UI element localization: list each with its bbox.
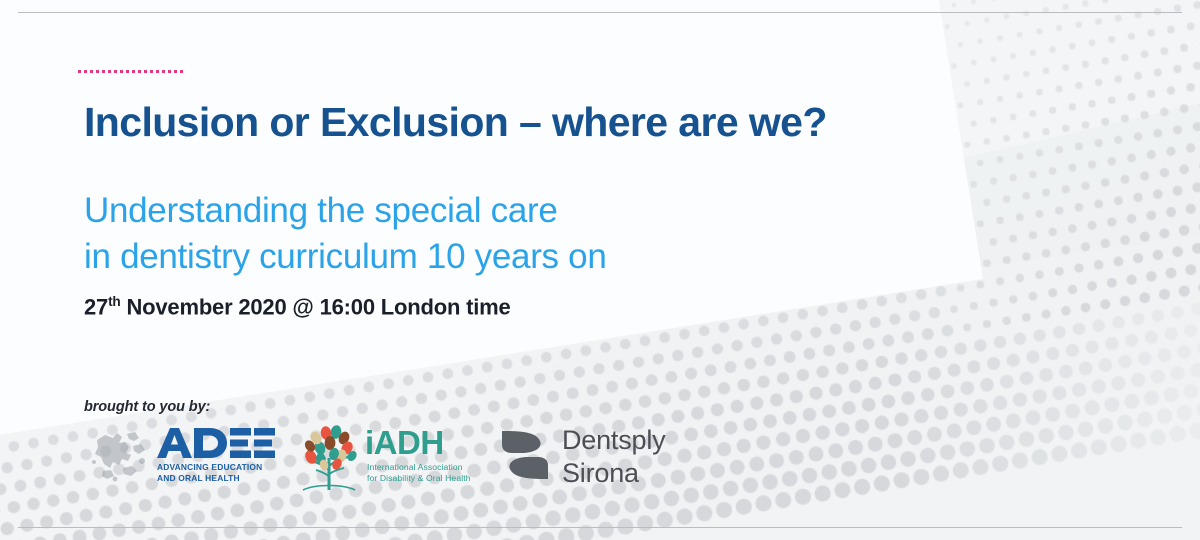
adee-tagline: ADVANCING EDUCATION AND ORAL HEALTH	[157, 462, 287, 484]
sponsors-intro-label: brought to you by:	[84, 399, 210, 415]
dentsply-sirona-wordmark-line-2: Sirona	[562, 457, 665, 490]
iadh-wordmark: iADH	[365, 426, 444, 459]
adee-logo[interactable]: ADVANCING EDUCATION AND ORAL HEALTH	[89, 418, 279, 498]
adee-wordmark	[155, 426, 275, 462]
dentsply-sirona-wordmark-line-1: Dentsply	[562, 424, 665, 457]
page-subtitle: Understanding the special care in dentis…	[84, 188, 784, 279]
tree-icon	[289, 418, 369, 498]
dentsply-sirona-mark-icon	[496, 426, 554, 484]
event-day-suffix: th	[108, 294, 120, 309]
iadh-tagline-line-1: International Association	[367, 462, 463, 472]
subtitle-line-1: Understanding the special care	[84, 191, 558, 230]
iadh-logo[interactable]: iADH International Association for Disab…	[289, 418, 489, 502]
event-datetime: 27th November 2020 @ 16:00 London time	[84, 294, 511, 320]
subtitle-line-2: in dentistry curriculum 10 years on	[84, 234, 784, 280]
adee-tagline-line-1: ADVANCING EDUCATION	[157, 462, 262, 472]
adee-tagline-line-2: AND ORAL HEALTH	[157, 473, 240, 483]
event-day: 27	[84, 294, 108, 319]
europe-map-icon	[89, 426, 151, 486]
content-column: Inclusion or Exclusion – where are we? U…	[84, 0, 984, 540]
dentsply-sirona-logo[interactable]: Dentsply Sirona	[496, 418, 706, 492]
webinar-promo-banner: Inclusion or Exclusion – where are we? U…	[0, 0, 1200, 540]
event-date-rest: November 2020 @ 16:00 London time	[121, 294, 511, 319]
iadh-tagline-line-2: for Disability & Oral Health	[367, 473, 471, 483]
page-title: Inclusion or Exclusion – where are we?	[84, 100, 944, 145]
accent-dotted-line	[78, 70, 184, 73]
iadh-tagline: International Association for Disability…	[367, 462, 497, 485]
dentsply-sirona-wordmark: Dentsply Sirona	[562, 424, 665, 490]
